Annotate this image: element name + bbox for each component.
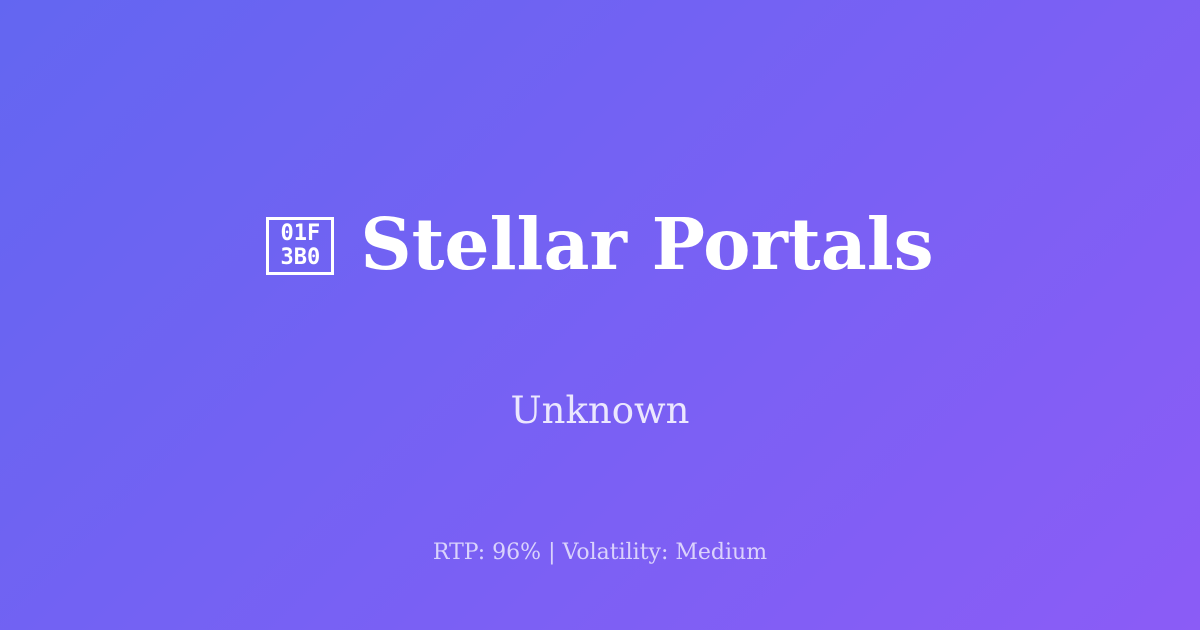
provider-subtitle: Unknown [510,389,689,433]
slot-machine-icon-hex-top: 01F [280,222,320,246]
hero-block: 01F 3B0 Stellar Portals Unknown [0,160,1200,433]
page-title: Stellar Portals [360,208,933,282]
game-stats-line: RTP: 96% | Volatility: Medium [0,540,1200,566]
game-preview-card: 01F 3B0 Stellar Portals Unknown RTP: 96%… [0,0,1200,630]
slot-machine-icon-hex-bottom: 3B0 [280,246,320,270]
slot-machine-icon: 01F 3B0 [266,217,334,275]
title-row: 01F 3B0 Stellar Portals [266,160,933,329]
